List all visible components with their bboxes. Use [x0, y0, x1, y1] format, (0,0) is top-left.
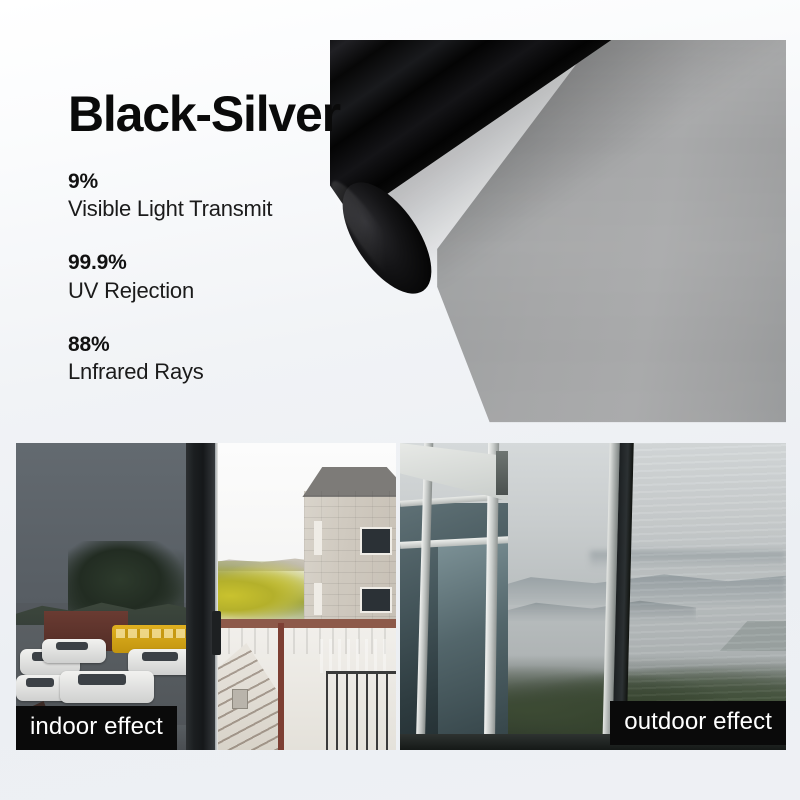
spec-item-uv: 99.9% UV Rejection — [68, 250, 398, 305]
indoor-effect-caption: indoor effect — [16, 706, 177, 750]
spec-label: UV Rejection — [68, 277, 398, 306]
indoor-effect-photo: indoor effect — [16, 443, 396, 750]
blue-tarp — [320, 639, 386, 673]
comparison-photos: indoor effect — [16, 443, 786, 750]
product-copy: Black-Silver 9% Visible Light Transmit 9… — [68, 88, 398, 414]
indoor-clear-half — [202, 443, 396, 750]
indoor-tinted-half — [16, 443, 202, 750]
red-post — [278, 623, 284, 750]
spec-label: Lnfrared Rays — [68, 358, 398, 387]
car-window — [56, 642, 88, 650]
dark-glass-panel-inner — [438, 541, 508, 750]
spec-item-infrared: 88% Lnfrared Rays — [68, 332, 398, 387]
soffit-shadow — [496, 451, 508, 495]
product-infographic: Black-Silver 9% Visible Light Transmit 9… — [0, 0, 800, 800]
metal-railing — [326, 671, 396, 750]
outdoor-effect-photo: outdoor effect — [400, 443, 786, 750]
spec-value: 88% — [68, 332, 398, 358]
page-title: Black-Silver — [68, 88, 398, 141]
hero-section: Black-Silver 9% Visible Light Transmit 9… — [0, 0, 800, 443]
car-window — [142, 652, 178, 661]
spec-label: Visible Light Transmit — [68, 195, 398, 224]
window-film-roll-image — [330, 40, 786, 438]
window-mullion-edge — [215, 443, 218, 750]
car-window — [78, 674, 126, 685]
house-window — [360, 587, 392, 613]
window-mullion — [186, 443, 217, 750]
spec-item-vlt: 9% Visible Light Transmit — [68, 169, 398, 224]
bus-windows — [116, 629, 190, 638]
house-window-narrow — [314, 521, 322, 555]
outdoor-effect-caption: outdoor effect — [610, 701, 786, 745]
wall-coping — [202, 619, 396, 628]
spec-value: 99.9% — [68, 250, 398, 276]
window-handle — [212, 611, 221, 655]
car-window — [26, 678, 54, 687]
house-window-narrow — [314, 583, 322, 615]
house-window — [360, 527, 392, 555]
utility-box — [232, 689, 248, 709]
facade-left-bay — [400, 443, 508, 750]
spec-value: 9% — [68, 169, 398, 195]
